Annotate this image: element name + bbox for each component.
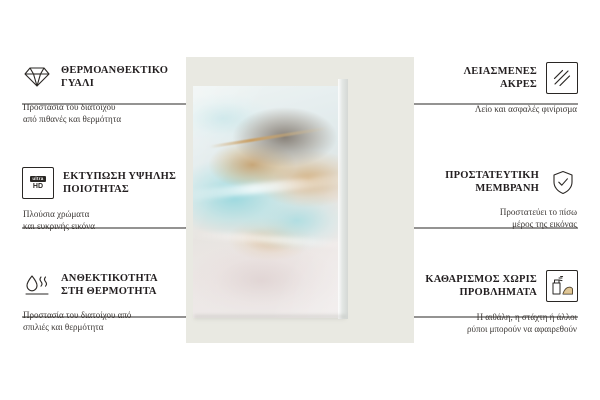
feature-desc-line1: Πλούσια χρώματα [23,208,198,220]
feature-title-line2: ΓΥΑΛΙ [61,77,198,90]
glass-panel-artwork [193,86,341,318]
feature-title-line2: ΣΤΗ ΘΕΡΜΟΤΗΤΑ [61,285,198,298]
ultra-hd-icon: ultra HD [22,167,54,199]
feature-title-line1: ΘΕΡΜΟΑΝΘΕΚΤΙΚΟ [61,64,198,77]
feature-heat-durability: ΑΝΘΕΚΤΙΚΟΤΗΤΑ ΣΤΗ ΘΕΡΜΟΤΗΤΑ Προστασία το… [22,270,198,333]
feature-title-line2: ΠΡΟΒΛΗΜΑΤΑ [402,286,537,299]
feature-desc-line1: Προστατεύει το πίσω [402,206,577,218]
feature-desc-line2: μέρος της εικόνας [402,218,577,230]
diamond-icon [22,62,52,92]
ultra-label: ultra [30,176,45,182]
feature-title-line2: ΜΕΜΒΡΑΝΗ [402,182,539,195]
feature-desc-line1: Η αιθάλη, η στάχτη ή άλλοι [402,311,577,323]
feature-title-line1: ΚΑΘΑΡΙΣΜΟΣ ΧΩΡΙΣ [402,273,537,286]
feature-title-line2: ΑΚΡΕΣ [402,78,537,91]
feature-desc-line1: Λείο και ασφαλές φινίρισμα [402,103,577,115]
droplet-heat-icon [22,270,52,300]
feature-high-quality-print: ultra HD ΕΚΤΥΠΩΣΗ ΥΨΗΛΗΣ ΠΟΙΟΤΗΤΑΣ Πλούσ… [22,167,198,232]
product-shadow [194,315,346,321]
feature-title-line1: ΛΕΙΑΣΜΕΝΕΣ [402,65,537,78]
feature-desc-line2: σπιλιές και θερμότητα [23,321,198,333]
feature-desc-line1: Προστασία του διατοίχου από [23,309,198,321]
feature-title-line1: ΕΚΤΥΠΩΣΗ ΥΨΗΛΗΣ [63,170,198,183]
product-image [186,57,414,343]
glass-edge [338,79,348,319]
infographic-page: ΘΕΡΜΟΑΝΘΕΚΤΙΚΟ ΓΥΑΛΙ Προστασία του διατο… [0,0,600,400]
feature-title-line1: ΠΡΟΣΤΑΤΕΥΤΙΚΗ [402,169,539,182]
feature-title-line2: ΠΟΙΟΤΗΤΑΣ [63,183,198,196]
feature-desc-line1: Προστασία του διατοίχου [23,101,198,113]
feature-heat-resistant-glass: ΘΕΡΜΟΑΝΘΕΚΤΙΚΟ ΓΥΑΛΙ Προστασία του διατο… [22,62,198,125]
diagonal-lines-icon [546,62,578,94]
feature-desc-line2: και ευκρινής εικόνα [23,220,198,232]
hd-label: HD [30,183,45,191]
feature-desc-line2: ρύποι μπορούν να αφαιρεθούν [402,323,577,335]
shield-check-icon [548,167,578,197]
feature-protective-membrane: ΠΡΟΣΤΑΤΕΥΤΙΚΗ ΜΕΜΒΡΑΝΗ Προστατεύει το πί… [402,167,578,230]
feature-smooth-edges: ΛΕΙΑΣΜΕΝΕΣ ΑΚΡΕΣ Λείο και ασφαλές φινίρι… [402,62,578,115]
feature-desc-line2: από πιθανές και θερμότητα [23,113,198,125]
feature-title-line1: ΑΝΘΕΚΤΙΚΟΤΗΤΑ [61,272,198,285]
feature-easy-cleaning: ΚΑΘΑΡΙΣΜΟΣ ΧΩΡΙΣ ΠΡΟΒΛΗΜΑΤΑ Η αιθάλη, η … [402,270,578,335]
spray-cloth-icon [546,270,578,302]
